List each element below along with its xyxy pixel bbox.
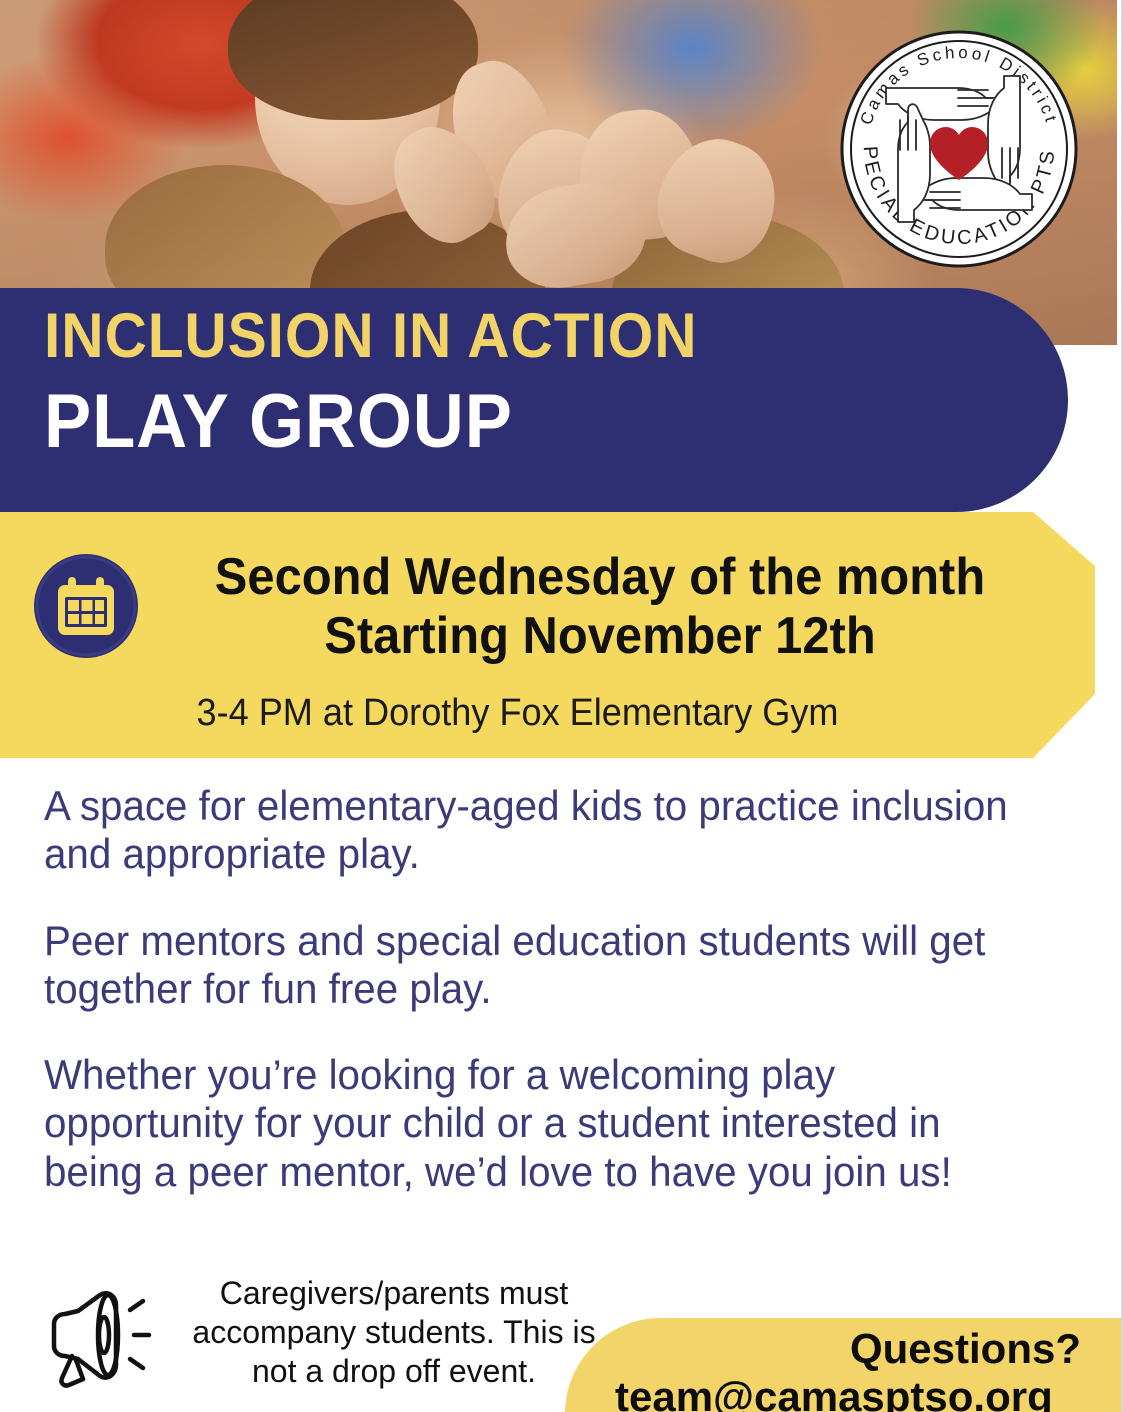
page-title-line1: INCLUSION IN ACTION (44, 305, 697, 368)
time-and-location: 3-4 PM at Dorothy Fox Elementary Gym (0, 694, 1038, 732)
date-text-block: Second Wednesday of the month Starting N… (160, 548, 1040, 667)
caregiver-note-text: Caregivers/parents must accompany studen… (170, 1272, 618, 1391)
contact-email[interactable]: team@camasptso.org (615, 1376, 1053, 1412)
megaphone-icon (38, 1284, 156, 1390)
calendar-icon (32, 552, 140, 660)
body-paragraph: Peer mentors and special education stude… (44, 917, 1033, 1014)
date-line-2: Starting November 12th (186, 607, 1013, 666)
date-banner: Second Wednesday of the month Starting N… (0, 512, 1095, 758)
body-paragraph: Whether you’re looking for a welcoming p… (44, 1051, 1033, 1196)
date-line-1: Second Wednesday of the month (186, 548, 1013, 607)
questions-title: Questions? (850, 1328, 1081, 1370)
body-copy: A space for elementary-aged kids to prac… (44, 782, 1074, 1234)
questions-banner: Questions? team@camasptso.org (565, 1318, 1123, 1412)
body-paragraph: A space for elementary-aged kids to prac… (44, 782, 1033, 879)
page-title-line2: PLAY GROUP (44, 384, 513, 460)
flyer-page: Camas School District SPECIAL EDUCATION … (0, 0, 1123, 1412)
caregiver-note: Caregivers/parents must accompany studen… (38, 1272, 618, 1391)
camas-sped-ptso-logo: Camas School District SPECIAL EDUCATION … (838, 28, 1080, 270)
header-banner: INCLUSION IN ACTION PLAY GROUP (0, 288, 1068, 512)
